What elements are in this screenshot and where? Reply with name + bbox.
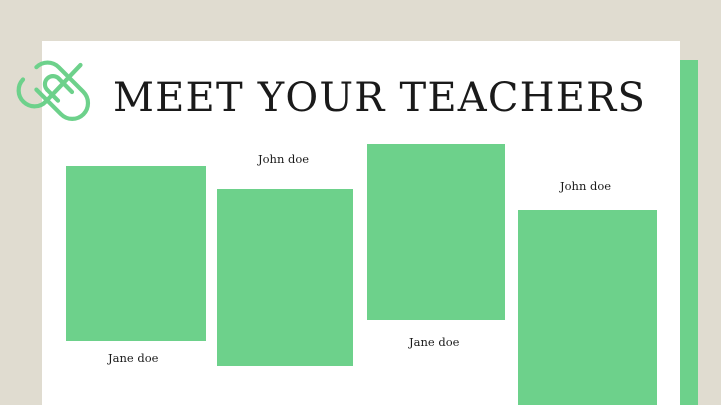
teacher-photo-3[interactable] — [518, 210, 657, 405]
teacher-photo-0[interactable] — [66, 166, 206, 341]
teacher-caption-1: John doe — [258, 152, 309, 166]
paperclip-icon — [14, 46, 92, 136]
page-title: MEET YOUR TEACHERS — [113, 74, 646, 122]
teacher-photo-1[interactable] — [217, 189, 353, 366]
teacher-caption-2: Jane doe — [409, 335, 459, 349]
teacher-caption-3: John doe — [560, 179, 611, 193]
teacher-caption-0: Jane doe — [108, 351, 158, 365]
slide-canvas: MEET YOUR TEACHERS Jane doe John doe Jan… — [0, 0, 721, 405]
accent-stripe — [680, 60, 698, 405]
teacher-photo-2[interactable] — [367, 144, 505, 320]
